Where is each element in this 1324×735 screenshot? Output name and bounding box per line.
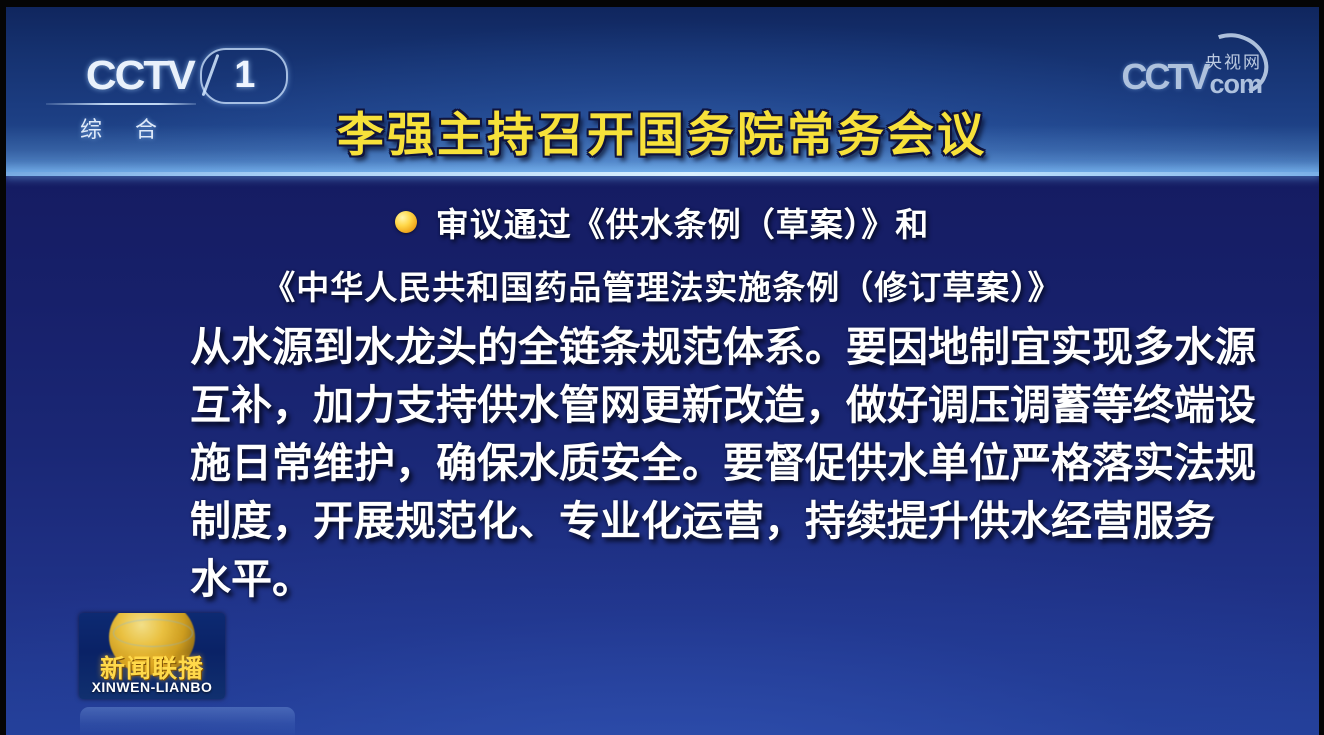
- bullet-dot-icon: [395, 211, 417, 233]
- cctv1-wordmark: CCTV: [86, 52, 194, 99]
- cctv1-logo-row: CCTV 1: [88, 52, 192, 99]
- page-title: 李强主持召开国务院常务会议: [0, 96, 1324, 165]
- paragraph-line: 从水源到水龙头的全链条规范体系。要因地制宜实现多水源: [190, 318, 1175, 376]
- cctv1-channel-number: 1: [234, 54, 255, 97]
- cctvcom-wordmark-row: CCTV com 央视网: [1121, 56, 1262, 98]
- paragraph-line: 施日常维护，确保水质安全。要督促供水单位严格落实法规: [190, 434, 1175, 492]
- lower-third-bar: [80, 707, 295, 735]
- paragraph-line: 制度，开展规范化、专业化运营，持续提升供水经营服务: [190, 492, 1175, 550]
- bullet-item-2: 《中华人民共和国药品管理法实施条例（修订草案）》: [0, 261, 1324, 309]
- broadcast-screen: CCTV 1 综 合 CCTV com 央视网 李强主持召开国务院常务会议 审议…: [0, 0, 1324, 735]
- frame-left-border: [0, 0, 6, 735]
- bullet-item-1: 审议通过《供水条例（草案）》和: [0, 198, 1324, 246]
- paragraph-line: 互补，加力支持供水管网更新改造，做好调压调蓄等终端设: [190, 376, 1175, 434]
- cctvcom-watermark: CCTV com 央视网: [1121, 56, 1262, 98]
- bullet-list: 审议通过《供水条例（草案）》和 《中华人民共和国药品管理法实施条例（修订草案）》: [0, 198, 1324, 309]
- frame-top-border: [0, 0, 1324, 7]
- bullet-item-1-label: 审议通过《供水条例（草案）》和: [436, 198, 930, 246]
- paragraph-line: 水平。: [190, 550, 1175, 608]
- header-divider-line: [6, 172, 1319, 176]
- body-paragraph: 从水源到水龙头的全链条规范体系。要因地制宜实现多水源 互补，加力支持供水管网更新…: [190, 318, 1175, 608]
- cctvcom-wordmark: CCTV: [1121, 56, 1207, 98]
- frame-right-border: [1319, 0, 1324, 735]
- xinwen-lianbo-en-title: XINWEN-LIANBO: [79, 679, 225, 695]
- xinwen-lianbo-logo: 新闻联播 XINWEN-LIANBO: [79, 613, 225, 699]
- cctvcom-cn-label: 央视网: [1205, 48, 1262, 73]
